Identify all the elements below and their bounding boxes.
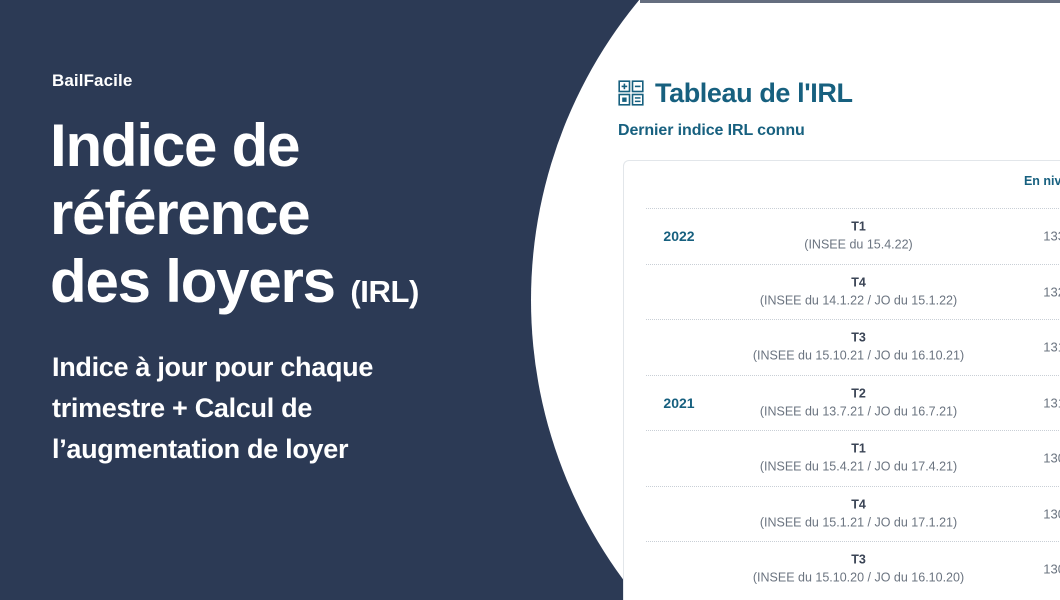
title-line-1: Indice de [50, 112, 299, 179]
panel-title: Tableau de l'IRL [655, 78, 853, 109]
table-row: T4(INSEE du 14.1.22 / JO du 15.1.22)132,… [646, 264, 1060, 320]
row-index-value: 132,62 [1043, 284, 1060, 299]
subtitle-line-2: trimestre + Calcul de [52, 393, 312, 423]
column-header-value: En niveau [1024, 174, 1060, 188]
row-quarter-cell: T3(INSEE du 15.10.21 / JO du 16.10.21) [716, 330, 1001, 365]
table-row: T3(INSEE du 15.10.21 / JO du 16.10.21)13… [646, 319, 1060, 375]
row-quarter-cell: T3(INSEE du 15.10.20 / JO du 16.10.20) [716, 552, 1001, 587]
row-year-label: 2021 [650, 395, 708, 411]
irl-table-panel: Tableau de l'IRL Dernier indice IRL conn… [618, 76, 1060, 600]
irl-table-card: En niveau 2022T1(INSEE du 15.4.22)133,93… [623, 160, 1060, 600]
row-quarter-label: T3 [716, 552, 1001, 569]
row-quarter-label: T2 [716, 385, 1001, 402]
table-row: 2021T2(INSEE du 13.7.21 / JO du 16.7.21)… [646, 375, 1060, 431]
row-source-note: (INSEE du 15.4.21 / JO du 17.4.21) [716, 458, 1001, 476]
subtitle-line-3: l’augmentation de loyer [52, 434, 348, 464]
row-source-note: (INSEE du 15.1.21 / JO du 17.1.21) [716, 513, 1001, 531]
top-edge-strip [640, 0, 1060, 3]
poster-canvas: BailFacile Indice de référence des loyer… [0, 0, 1060, 600]
row-source-note: (INSEE du 13.7.21 / JO du 16.7.21) [716, 402, 1001, 420]
row-index-value: 130,59 [1043, 562, 1060, 577]
table-row: T1(INSEE du 15.4.21 / JO du 17.4.21)130,… [646, 430, 1060, 486]
row-year-label: 2022 [650, 228, 708, 244]
row-quarter-cell: T4(INSEE du 15.1.21 / JO du 17.1.21) [716, 496, 1001, 531]
hero-section: BailFacile Indice de référence des loyer… [0, 0, 540, 600]
panel-header: Tableau de l'IRL [618, 76, 1060, 110]
row-quarter-cell: T1(INSEE du 15.4.21 / JO du 17.4.21) [716, 441, 1001, 476]
row-source-note: (INSEE du 15.10.20 / JO du 16.10.20) [716, 569, 1001, 587]
row-index-value: 130,52 [1043, 506, 1060, 521]
table-row: 2022T1(INSEE du 15.4.22)133,93 [646, 208, 1060, 264]
subtitle-line-1: Indice à jour pour chaque [52, 352, 373, 382]
title-abbreviation: (IRL) [350, 274, 419, 309]
hero-subtitle: Indice à jour pour chaque trimestre + Ca… [52, 347, 512, 470]
row-quarter-label: T3 [716, 330, 1001, 347]
row-quarter-cell: T4(INSEE du 14.1.22 / JO du 15.1.22) [716, 274, 1001, 309]
irl-table-body: 2022T1(INSEE du 15.4.22)133,93T4(INSEE d… [624, 208, 1060, 597]
row-quarter-label: T4 [716, 496, 1001, 513]
panel-subtitle: Dernier indice IRL connu [618, 122, 1060, 140]
row-index-value: 130,69 [1043, 451, 1060, 466]
row-source-note: (INSEE du 15.10.21 / JO du 16.10.21) [716, 347, 1001, 365]
row-index-value: 133,93 [1043, 229, 1060, 244]
table-row: T3(INSEE du 15.10.20 / JO du 16.10.20)13… [646, 541, 1060, 597]
row-source-note: (INSEE du 15.4.22) [716, 236, 1001, 254]
row-quarter-cell: T1(INSEE du 15.4.22) [716, 219, 1001, 254]
brand-logo: BailFacile [52, 71, 132, 91]
row-quarter-label: T1 [716, 219, 1001, 236]
table-grid-icon [618, 80, 644, 106]
row-index-value: 131,12 [1043, 395, 1060, 410]
row-quarter-label: T4 [716, 274, 1001, 291]
page-title: Indice de référence des loyers (IRL) [50, 112, 520, 326]
table-row: T4(INSEE du 15.1.21 / JO du 17.1.21)130,… [646, 486, 1060, 542]
row-quarter-label: T1 [716, 441, 1001, 458]
row-index-value: 131,67 [1043, 340, 1060, 355]
row-quarter-cell: T2(INSEE du 13.7.21 / JO du 16.7.21) [716, 385, 1001, 420]
row-source-note: (INSEE du 14.1.22 / JO du 15.1.22) [716, 291, 1001, 309]
title-line-2: référence [50, 180, 309, 247]
title-line-3: des loyers [50, 248, 335, 315]
